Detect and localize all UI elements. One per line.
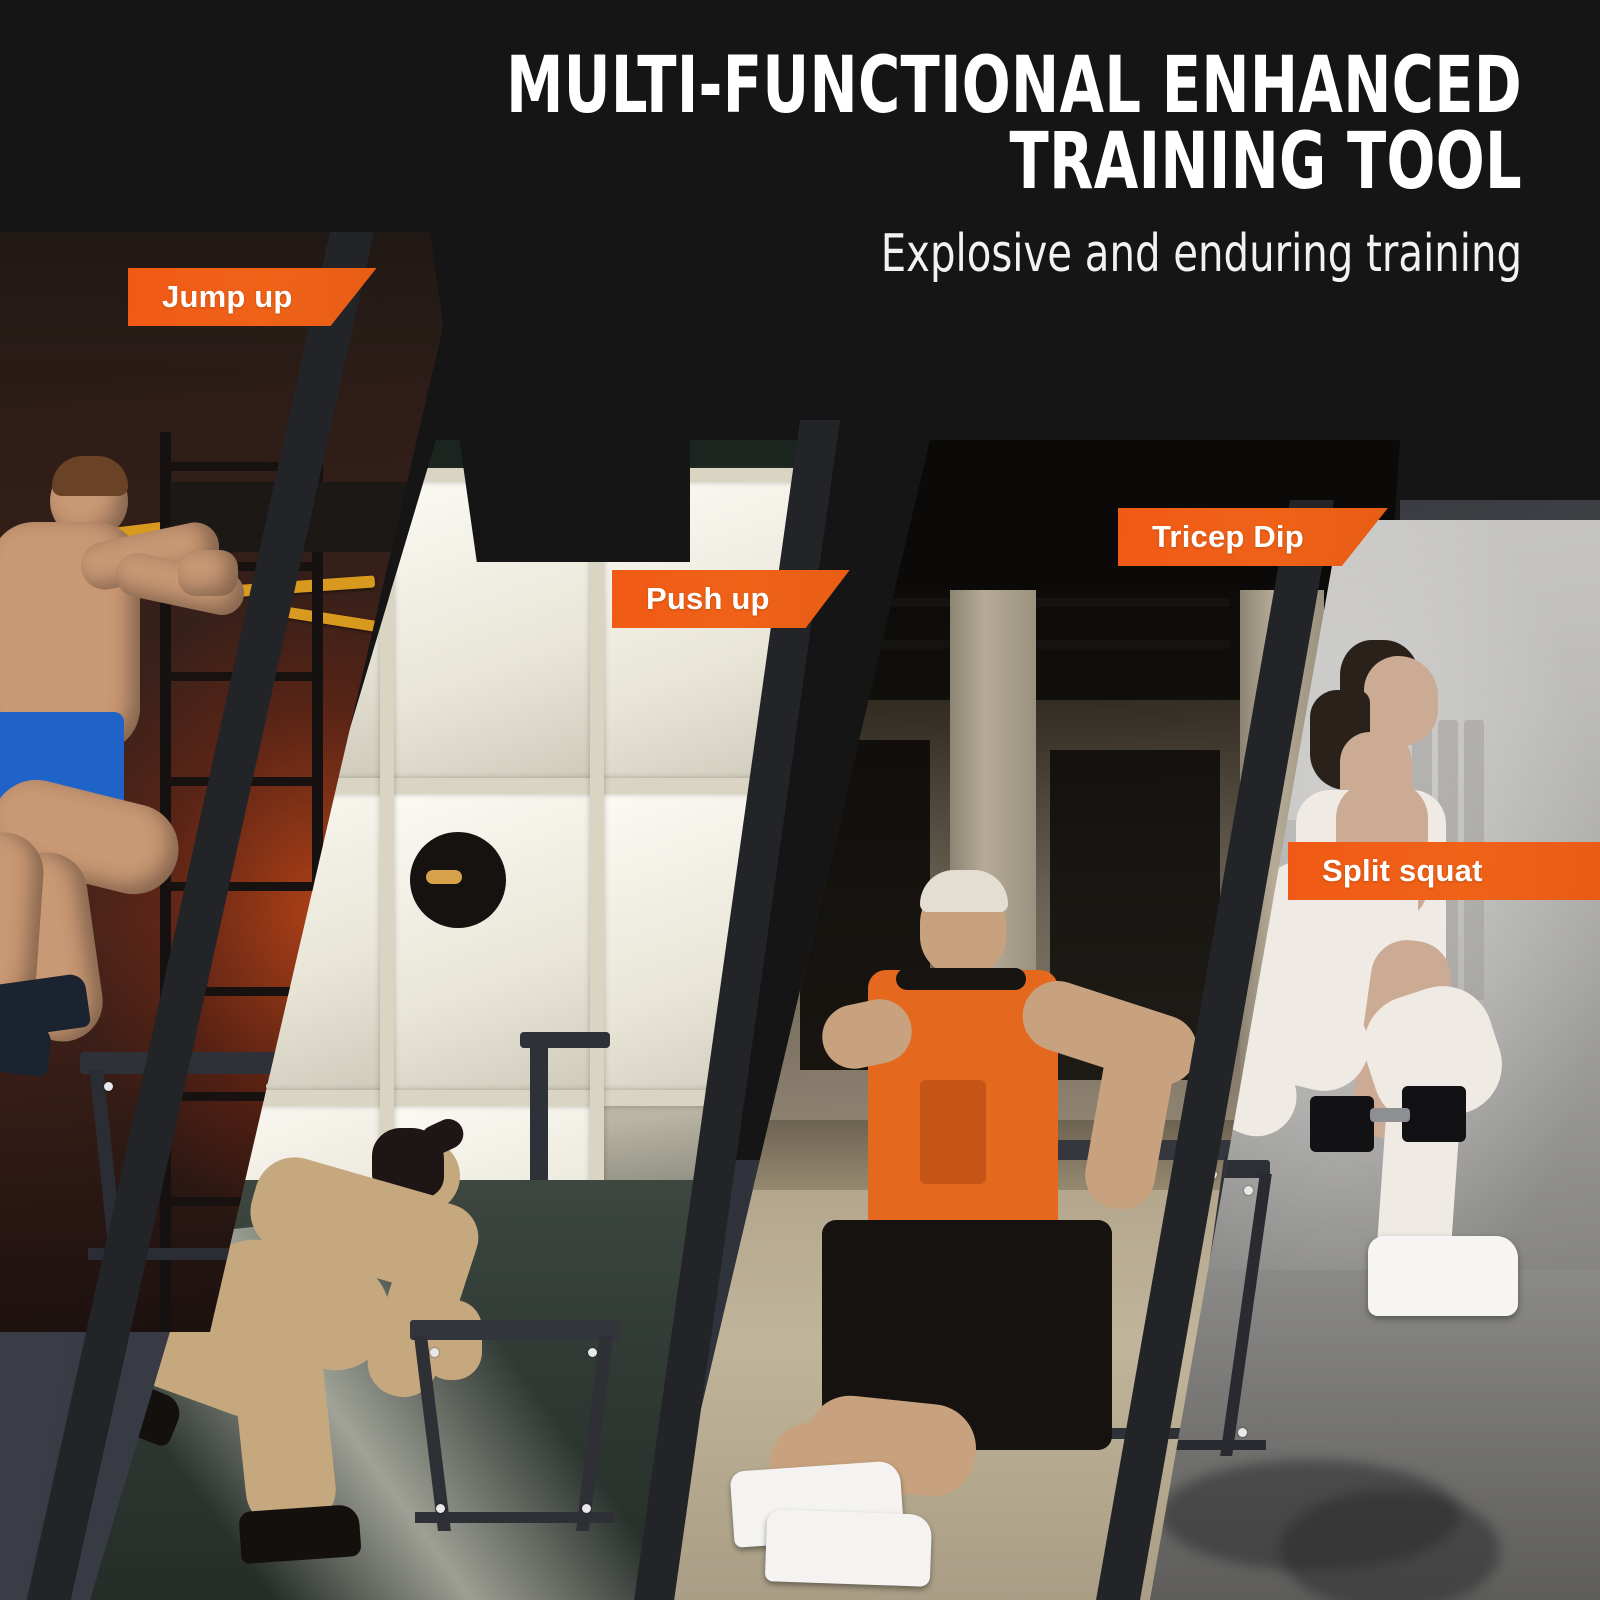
badge-tricep-dip-label: Tricep Dip <box>1152 519 1304 555</box>
promo-banner: Jump up Push up Tricep Dip Split squat M… <box>0 0 1600 1600</box>
page-title-line-1: MULTI-FUNCTIONAL ENHANCED <box>505 48 1522 124</box>
badge-split-squat: Split squat <box>1288 842 1600 900</box>
badge-jump-up-label: Jump up <box>162 279 293 315</box>
badge-push-up: Push up <box>612 570 850 628</box>
badge-tricep-dip: Tricep Dip <box>1118 508 1388 566</box>
page-title-line-2: TRAINING TOOL <box>505 124 1522 200</box>
badge-split-squat-label: Split squat <box>1322 853 1483 889</box>
badge-push-up-label: Push up <box>646 581 770 617</box>
